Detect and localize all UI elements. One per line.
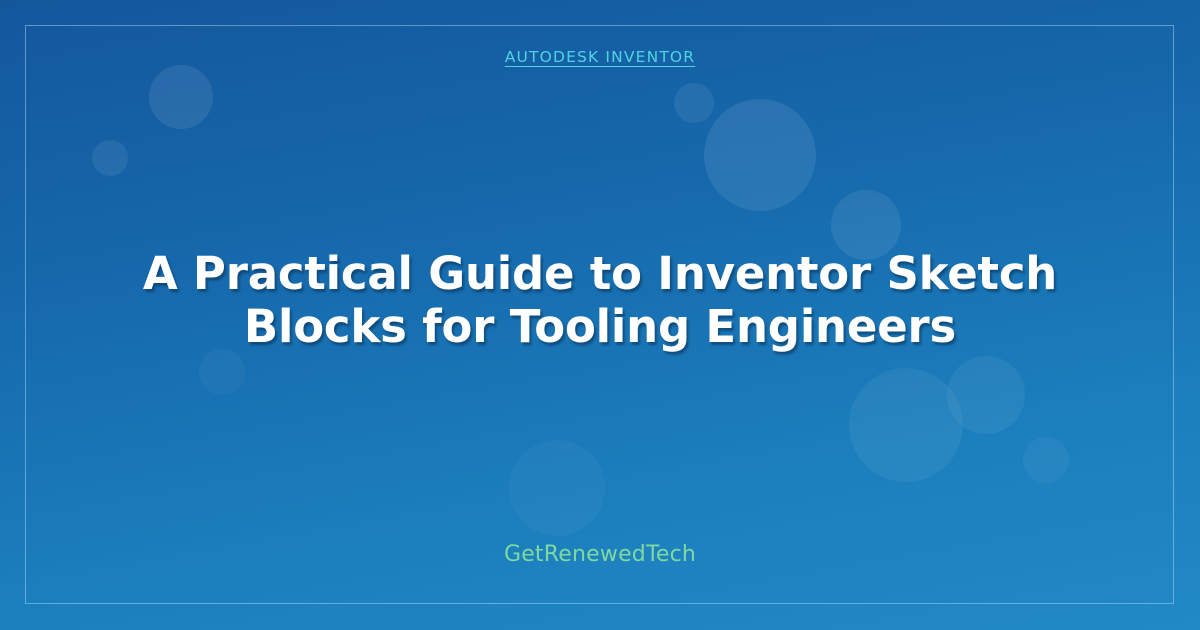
social-card: AUTODESK INVENTOR A Practical Guide to I… <box>0 0 1200 630</box>
page-title: A Practical Guide to Inventor Sketch Blo… <box>85 248 1115 353</box>
brand-footer-label: GetRenewedTech <box>504 544 696 566</box>
title-container: A Practical Guide to Inventor Sketch Blo… <box>70 58 1130 545</box>
card-content: AUTODESK INVENTOR A Practical Guide to I… <box>0 0 1200 630</box>
